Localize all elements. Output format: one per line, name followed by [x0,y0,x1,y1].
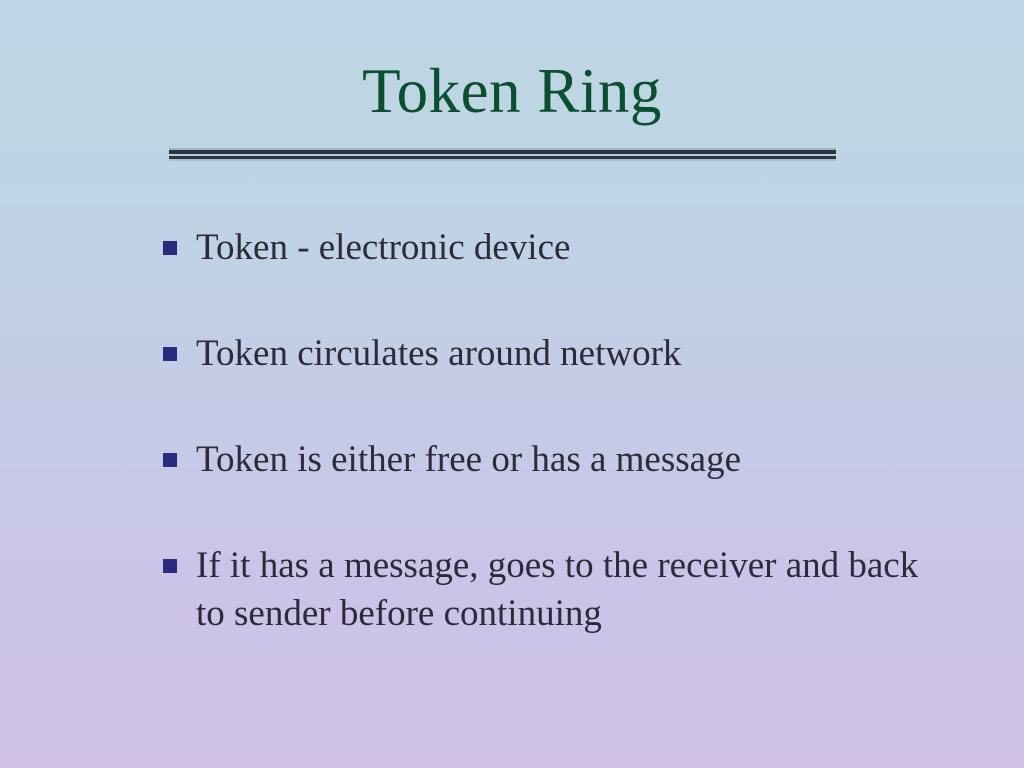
divider-line-5 [169,159,836,161]
square-bullet-icon [163,559,177,573]
list-item: Token is either free or has a message [160,436,960,484]
list-item-label: Token circulates around network [196,330,956,378]
square-bullet-icon [163,241,177,255]
list-item-label: Token is either free or has a message [196,436,956,484]
list-item: If it has a message, goes to the receive… [160,542,960,638]
list-item-label: If it has a message, goes to the receive… [196,542,956,638]
list-item-label: Token - electronic device [196,224,956,272]
bullet-list: Token - electronic device Token circulat… [160,224,960,638]
square-bullet-icon [163,453,177,467]
presentation-slide: Token Ring Token - electronic device Tok… [0,0,1024,768]
title-divider [169,148,836,164]
page-title: Token Ring [0,58,1024,124]
title-block: Token Ring [0,58,1024,124]
list-item: Token circulates around network [160,330,960,378]
square-bullet-icon [163,347,177,361]
list-item: Token - electronic device [160,224,960,272]
